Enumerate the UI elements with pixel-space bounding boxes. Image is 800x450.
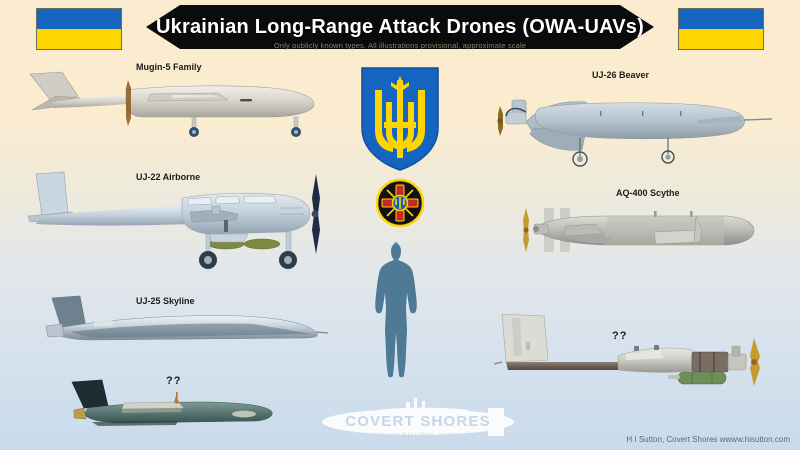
subtitle: Only publicly known types. All illustrat… (0, 41, 800, 50)
infographic-canvas: Ukrainian Long-Range Attack Drones (OWA-… (0, 0, 800, 450)
drone-illustration-mugin-5 (22, 62, 332, 147)
drone-label-uj-26: UJ-26 Beaver (592, 70, 649, 80)
drone-illustration-uj-22 (12, 168, 342, 280)
ukrainian-trident-coat-of-arms-icon (358, 66, 442, 172)
drone-label-aq-400: AQ-400 Scythe (616, 188, 680, 198)
page-title: Ukrainian Long-Range Attack Drones (OWA-… (156, 16, 644, 39)
flag-blue-stripe (679, 9, 763, 29)
drone-illustration-unknown-right (492, 312, 792, 390)
ukrainian-armed-forces-emblem-icon (375, 178, 425, 228)
watermark-brand: COVERT SHORES (345, 413, 491, 430)
footer-credit: H I Sutton, Covert Shores wwww.hisutton.… (626, 435, 790, 444)
watermark-site: www.hisutton.com (380, 431, 455, 440)
drone-illustration-aq-400 (508, 202, 798, 264)
covert-shores-watermark: COVERT SHORES www.hisutton.com (318, 392, 528, 446)
drone-illustration-uj-25 (32, 292, 332, 358)
flag-blue-stripe (37, 9, 121, 29)
drone-illustration-uj-26 (482, 80, 782, 170)
drone-illustration-unknown-left (58, 378, 298, 432)
human-scale-figure (366, 240, 434, 380)
